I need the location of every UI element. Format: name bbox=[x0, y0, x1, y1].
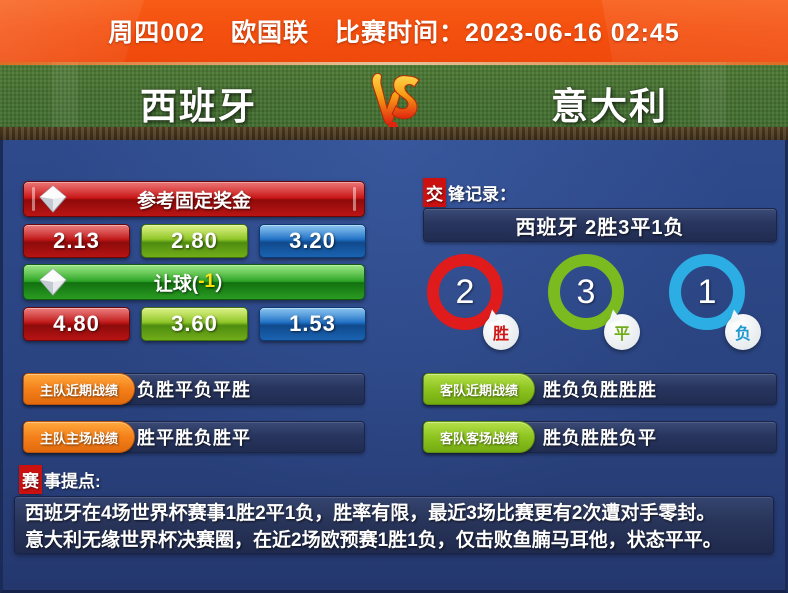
analysis-line-2: 意大利无缘世界杯决赛圈，在近2场欧预赛1胜1负，仅击败鱼腩马耳他，状态平平。 bbox=[25, 527, 765, 554]
form-row-away-venue: 胜负胜胜负平 客队客场战绩 bbox=[423, 421, 775, 451]
pitch-dirt-strip bbox=[0, 127, 788, 140]
h2h-win-count: 2 bbox=[456, 273, 475, 312]
match-header-text: 周四002 欧国联 比赛时间：2023-06-16 02:45 bbox=[0, 0, 788, 62]
handicap-value: -1 bbox=[198, 271, 215, 293]
h2h-loss-badge: 负 bbox=[725, 314, 761, 350]
analysis-box: 西班牙在4场世界杯赛事1胜2平1负，胜率有限，最近3场比赛更有2次遭对手零封。 … bbox=[14, 496, 774, 554]
h2h-label-highlight: 交 bbox=[423, 178, 446, 207]
fixed-odds-banner: 参考固定奖金 bbox=[23, 181, 365, 217]
h2h-loss-badge-label: 负 bbox=[735, 320, 751, 344]
h2h-loss-circle: 1 负 bbox=[669, 254, 755, 340]
fixed-odd-away[interactable]: 3.20 bbox=[259, 224, 366, 258]
analysis-label-rest: 事提点: bbox=[44, 467, 101, 492]
analysis-section-label: 赛事提点: bbox=[19, 465, 101, 494]
handicap-odd-home[interactable]: 4.80 bbox=[23, 307, 130, 341]
h2h-summary-text: 西班牙 2胜3平1负 bbox=[516, 211, 685, 240]
h2h-draw-badge-label: 平 bbox=[614, 320, 630, 344]
form-row-home-recent: 负胜平负平胜 主队近期战绩 bbox=[23, 373, 363, 403]
pitch-top-divider bbox=[0, 62, 788, 65]
fixed-odd-home[interactable]: 2.13 bbox=[23, 224, 130, 258]
form-row-home-venue: 胜平胜负胜平 主队主场战绩 bbox=[23, 421, 363, 451]
handicap-odd-away[interactable]: 1.53 bbox=[259, 307, 366, 341]
home-team-name: 西班牙 bbox=[140, 76, 257, 130]
h2h-draw-count: 3 bbox=[577, 273, 596, 312]
h2h-label-rest: 锋记录： bbox=[448, 180, 516, 205]
h2h-summary-bar: 西班牙 2胜3平1负 bbox=[423, 208, 777, 242]
home-venue-tag: 主队主场战绩 bbox=[23, 421, 135, 453]
handicap-title-suffix: ） bbox=[215, 269, 234, 296]
banner-endcap bbox=[353, 187, 356, 211]
away-recent-tag: 客队近期战绩 bbox=[423, 373, 535, 405]
banner-endcap bbox=[32, 187, 35, 211]
home-recent-tag: 主队近期战绩 bbox=[23, 373, 135, 405]
h2h-draw-badge: 平 bbox=[604, 314, 640, 350]
handicap-banner: 让球(-1） bbox=[23, 264, 365, 300]
h2h-section-label: 交锋记录： bbox=[423, 178, 516, 207]
handicap-odd-draw[interactable]: 3.60 bbox=[141, 307, 248, 341]
fixed-odd-draw[interactable]: 2.80 bbox=[141, 224, 248, 258]
analysis-line-1: 西班牙在4场世界杯赛事1胜2平1负，胜率有限，最近3场比赛更有2次遭对手零封。 bbox=[25, 500, 765, 527]
away-venue-tag: 客队客场战绩 bbox=[423, 421, 535, 453]
h2h-loss-count: 1 bbox=[698, 273, 717, 312]
analysis-label-highlight: 赛 bbox=[19, 465, 42, 494]
h2h-draw-circle: 3 平 bbox=[548, 254, 634, 340]
h2h-win-badge-label: 胜 bbox=[493, 320, 509, 344]
diamond-icon bbox=[38, 184, 68, 214]
away-team-name: 意大利 bbox=[551, 76, 668, 130]
fixed-odds-banner-title: 参考固定奖金 bbox=[137, 186, 251, 213]
match-preview-card: 周四002 欧国联 比赛时间：2023-06-16 02:45 西班牙 意大利 bbox=[0, 0, 788, 593]
pitch-banner: 西班牙 意大利 bbox=[0, 62, 788, 140]
diamond-icon bbox=[38, 267, 68, 297]
h2h-win-badge: 胜 bbox=[483, 314, 519, 350]
form-row-away-recent: 胜负负胜胜胜 客队近期战绩 bbox=[423, 373, 775, 403]
match-header: 周四002 欧国联 比赛时间：2023-06-16 02:45 bbox=[0, 0, 788, 62]
handicap-title-prefix: 让球( bbox=[154, 269, 198, 296]
h2h-win-circle: 2 胜 bbox=[427, 254, 513, 340]
